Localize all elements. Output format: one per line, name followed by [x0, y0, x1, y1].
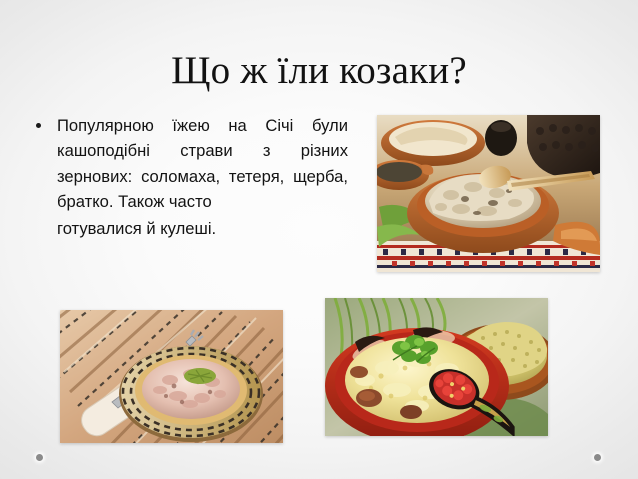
previous-slide-dot[interactable] [36, 454, 43, 461]
slide-canvas: Що ж їли козаки? Популярною їжею на Січі… [0, 0, 638, 479]
slide-title: Що ж їли козаки? [0, 49, 638, 93]
bullet-paragraph-main: Популярною їжею на Січі були кашоподібні… [57, 116, 348, 211]
bullet-list-item: Популярною їжею на Січі були кашоподібні… [30, 113, 348, 241]
photo-kulish-graphic [325, 298, 548, 436]
next-slide-dot[interactable] [594, 454, 601, 461]
photo-teterya-graphic [60, 310, 283, 443]
bullet-paragraph-tail: готувалися й кулеші. [57, 216, 348, 241]
photo-kulish [325, 298, 548, 436]
bullet-dot-icon [36, 123, 41, 128]
photo-solomakha-graphic [377, 115, 600, 272]
photo-teterya [60, 310, 283, 443]
bullet-paragraph: Популярною їжею на Січі були кашоподібні… [57, 113, 348, 241]
photo-solomakha [377, 115, 600, 272]
slide-body: Популярною їжею на Січі були кашоподібні… [30, 113, 348, 241]
